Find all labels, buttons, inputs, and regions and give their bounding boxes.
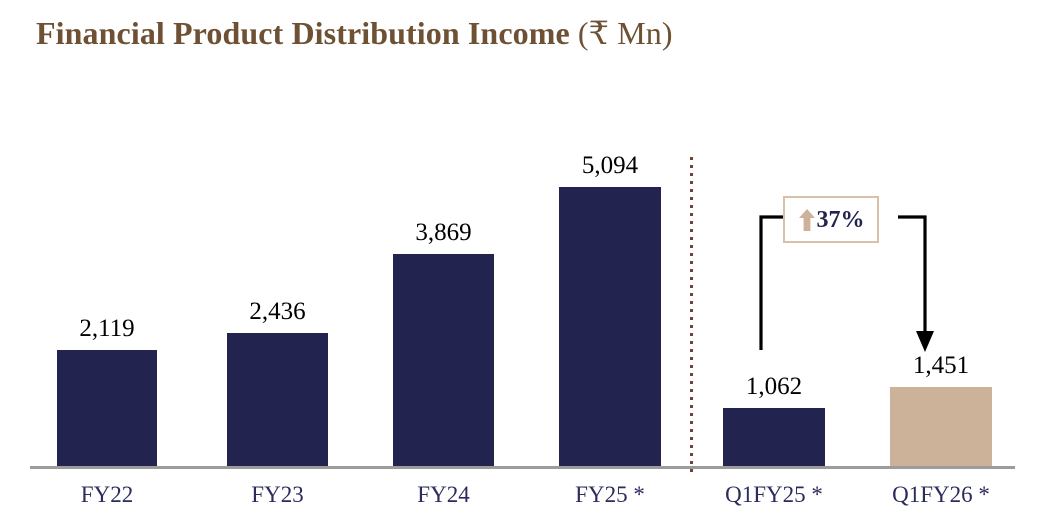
bar-fy25[interactable] xyxy=(559,187,661,466)
arrow-up-icon xyxy=(798,208,816,232)
bar-q1fy25[interactable] xyxy=(723,408,825,466)
growth-percentage-label: 37% xyxy=(817,208,865,232)
bar-value-label: 5,094 xyxy=(559,152,661,180)
x-axis-label-q1fy26: Q1FY26 * xyxy=(860,482,1022,508)
bar-chart-plot-area: 2,119FY222,436FY233,869FY245,094FY25 *1,… xyxy=(0,0,1046,518)
bar-value-label: 2,119 xyxy=(57,315,157,343)
x-axis-label-fy23: FY23 xyxy=(197,482,358,508)
bar-value-label: 1,451 xyxy=(890,352,992,380)
x-axis-label-fy24: FY24 xyxy=(363,482,524,508)
bar-q1fy26[interactable] xyxy=(890,387,992,466)
chart-baseline-axis xyxy=(30,466,1015,469)
bar-value-label: 1,062 xyxy=(723,373,825,401)
bar-value-label: 2,436 xyxy=(227,298,328,326)
growth-badge[interactable]: 37% xyxy=(783,196,879,243)
x-axis-label-q1fy25: Q1FY25 * xyxy=(693,482,855,508)
bar-value-label: 3,869 xyxy=(393,219,494,247)
bar-fy22[interactable] xyxy=(57,350,157,466)
section-divider-dotted xyxy=(690,157,693,475)
bar-fy23[interactable] xyxy=(227,333,328,466)
x-axis-label-fy25: FY25 * xyxy=(529,482,691,508)
x-axis-label-fy22: FY22 xyxy=(27,482,187,508)
bar-fy24[interactable] xyxy=(393,254,494,466)
